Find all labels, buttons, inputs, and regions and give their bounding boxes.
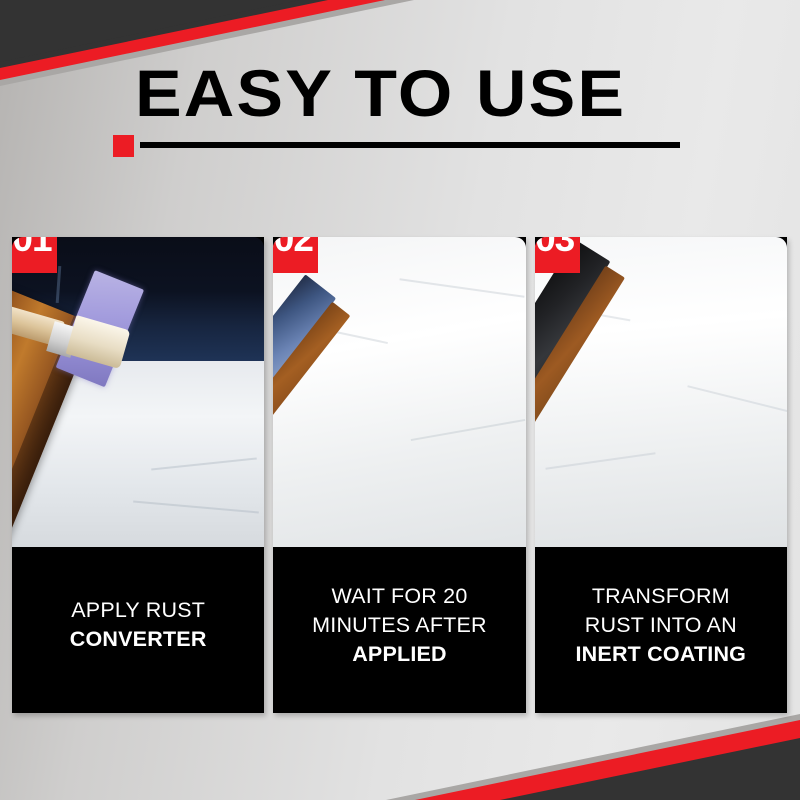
caption-line: TRANSFORM [592,582,730,611]
step-card-03[interactable]: 03 TRANSFORM RUST INTO AN INERT COATING [535,237,787,713]
step-caption-03: TRANSFORM RUST INTO AN INERT COATING [535,547,787,713]
photo-art-black-coated-tube [535,237,787,547]
photo1-cloth-fold [151,458,257,471]
photo-art-apply-converter [12,237,264,547]
title-underline [113,134,693,158]
step-number-badge-01: 01 [12,237,57,273]
caption-line-emphasis: INERT COATING [576,640,747,669]
title-rule-line [140,142,680,148]
corner-bottom-right-shadow [386,714,800,800]
step-photo-03: 03 [535,237,787,547]
caption-line: APPLY RUST [71,596,205,625]
step-card-01[interactable]: 01 APPLY RUST CONVERTER [12,237,264,713]
photo3-cloth-fold [687,385,787,413]
poster-canvas: EASY TO USE [0,0,800,800]
photo3-cloth-fold [545,452,655,469]
corner-bottom-right-dark [500,738,800,800]
step-number-badge-03: 03 [535,237,580,273]
step-caption-01: APPLY RUST CONVERTER [12,547,264,713]
caption-line: MINUTES AFTER [312,611,487,640]
step-photo-02: 02 [273,237,525,547]
step-card-02[interactable]: 02 WAIT FOR 20 MINUTES AFTER APPLIED [273,237,525,713]
title-accent-square [113,135,134,157]
steps-row: 01 APPLY RUST CONVERTER [12,237,787,713]
corner-bottom-right-red-stripe [415,720,800,800]
photo1-cloth-fold [133,501,259,514]
step-number-badge-02: 02 [273,237,318,273]
photo-art-blue-coated-tube [273,237,525,547]
caption-line: WAIT FOR 20 [331,582,467,611]
photo2-cloth-fold [410,419,525,441]
heading-block: EASY TO USE [113,58,693,158]
caption-line-emphasis: APPLIED [352,640,447,669]
step-photo-01: 01 [12,237,264,547]
page-title: EASY TO USE [135,58,726,128]
step-caption-02: WAIT FOR 20 MINUTES AFTER APPLIED [273,547,525,713]
caption-line-emphasis: CONVERTER [70,625,207,654]
corner-top-left-dark [0,0,300,62]
caption-line: RUST INTO AN [585,611,737,640]
photo2-cloth-fold [400,278,525,298]
